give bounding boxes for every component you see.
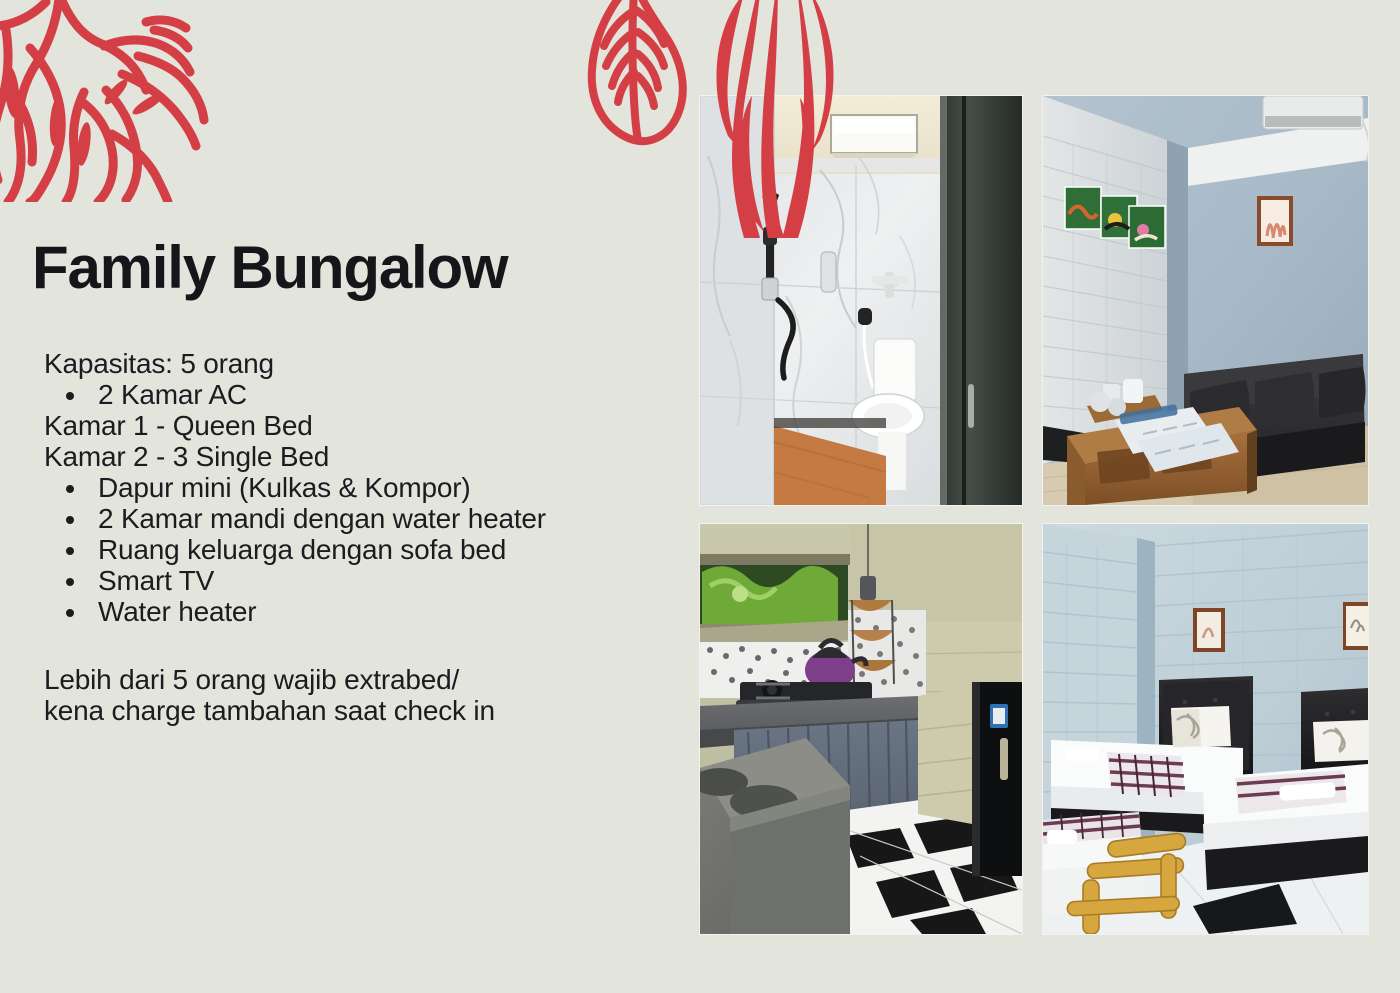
- list-item-label: Dapur mini (Kulkas & Kompor): [98, 472, 471, 503]
- list-item: Smart TV: [44, 565, 684, 596]
- text-column: Family Bungalow Kapasitas: 5 orang 2 Kam…: [0, 0, 690, 993]
- bullet-icon: [66, 516, 74, 524]
- extrabed-note-line-2: kena charge tambahan saat check in: [44, 695, 684, 726]
- capacity-line: Kapasitas: 5 orang: [44, 348, 684, 379]
- page-title: Family Bungalow: [32, 236, 507, 300]
- list-item-label: 2 Kamar AC: [98, 379, 247, 410]
- room-type-list: 2 Kamar AC: [44, 379, 684, 410]
- photo-grid: [700, 96, 1370, 934]
- list-item: Ruang keluarga dengan sofa bed: [44, 534, 684, 565]
- living-room-photo: [1043, 96, 1368, 505]
- room-line-1: Kamar 1 - Queen Bed: [44, 410, 684, 441]
- bedroom-photo: [1043, 524, 1368, 934]
- list-item-label: Smart TV: [98, 565, 214, 596]
- spacer: [44, 627, 684, 664]
- list-item-label: Ruang keluarga dengan sofa bed: [98, 534, 506, 565]
- body-copy: Kapasitas: 5 orang 2 Kamar AC Kamar 1 - …: [44, 348, 684, 726]
- bullet-icon: [66, 547, 74, 555]
- list-item-label: 2 Kamar mandi dengan water heater: [98, 503, 546, 534]
- bullet-icon: [66, 485, 74, 493]
- extrabed-note: Lebih dari 5 orang wajib extrabed/ kena …: [44, 664, 684, 726]
- bathroom-photo: [700, 96, 1022, 505]
- bullet-icon: [66, 392, 74, 400]
- list-item: 2 Kamar mandi dengan water heater: [44, 503, 684, 534]
- extrabed-note-line-1: Lebih dari 5 orang wajib extrabed/: [44, 664, 684, 695]
- amenities-list: Dapur mini (Kulkas & Kompor) 2 Kamar man…: [44, 472, 684, 627]
- list-item-label: Water heater: [98, 596, 256, 627]
- list-item: Dapur mini (Kulkas & Kompor): [44, 472, 684, 503]
- bullet-icon: [66, 578, 74, 586]
- list-item: 2 Kamar AC: [44, 379, 684, 410]
- list-item: Water heater: [44, 596, 684, 627]
- room-line-2: Kamar 2 - 3 Single Bed: [44, 441, 684, 472]
- bullet-icon: [66, 609, 74, 617]
- slide-canvas: Family Bungalow Kapasitas: 5 orang 2 Kam…: [0, 0, 1400, 993]
- kitchen-photo: [700, 524, 1022, 934]
